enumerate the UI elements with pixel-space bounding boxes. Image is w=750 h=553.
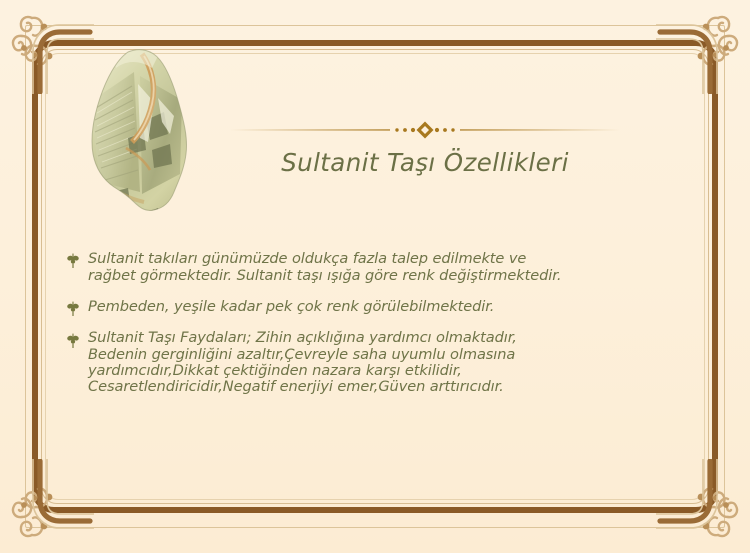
list-item-line: Pembeden, yeşile kadar pek çok renk görü… bbox=[88, 298, 494, 315]
corner-ornament-bottom-left bbox=[2, 459, 94, 551]
list-item-line: Sultanit takıları günümüzde oldukça fazl… bbox=[88, 250, 526, 267]
list-item-line: rağbet görmektedir. Sultanit taşı ışığa … bbox=[88, 267, 561, 284]
fleur-de-lis-icon bbox=[66, 330, 88, 348]
corner-ornament-top-right bbox=[656, 2, 748, 94]
list-item-line: Bedenin gerginliğini azaltır,Çevreyle sa… bbox=[88, 346, 515, 363]
page-title: Sultanit Taşı Özellikleri bbox=[215, 148, 635, 177]
title-block: Sultanit Taşı Özellikleri bbox=[215, 120, 635, 177]
list-item-text: Pembeden, yeşile kadar pek çok renk görü… bbox=[88, 298, 694, 315]
fleur-de-lis-icon bbox=[66, 250, 88, 268]
fleur-de-lis-icon bbox=[66, 298, 88, 316]
sultanite-gemstone-image bbox=[82, 42, 217, 232]
list-item-text: Sultanit Taşı Faydaları; Zihin açıklığın… bbox=[88, 330, 694, 395]
list-item: Sultanit Taşı Faydaları; Zihin açıklığın… bbox=[66, 330, 694, 395]
list-item-line: yardımcıdır,Dikkat çektiğinden nazara ka… bbox=[88, 362, 462, 379]
list-item-text: Sultanit takıları günümüzde oldukça fazl… bbox=[88, 250, 694, 284]
list-item-line: Sultanit Taşı Faydaları; Zihin açıklığın… bbox=[88, 329, 517, 346]
list-item: Pembeden, yeşile kadar pek çok renk görü… bbox=[66, 298, 694, 316]
list-item: Sultanit takıları günümüzde oldukça fazl… bbox=[66, 250, 694, 284]
list-item-line: Cesaretlendiricidir,Negatif enerjiyi eme… bbox=[88, 378, 504, 395]
feature-bullet-list: Sultanit takıları günümüzde oldukça fazl… bbox=[66, 250, 694, 396]
diamond-divider-icon bbox=[230, 120, 620, 140]
corner-ornament-bottom-right bbox=[656, 459, 748, 551]
corner-ornament-top-left bbox=[2, 2, 94, 94]
info-card: Sultanit Taşı Özellikleri Sultanit takıl… bbox=[0, 0, 750, 553]
